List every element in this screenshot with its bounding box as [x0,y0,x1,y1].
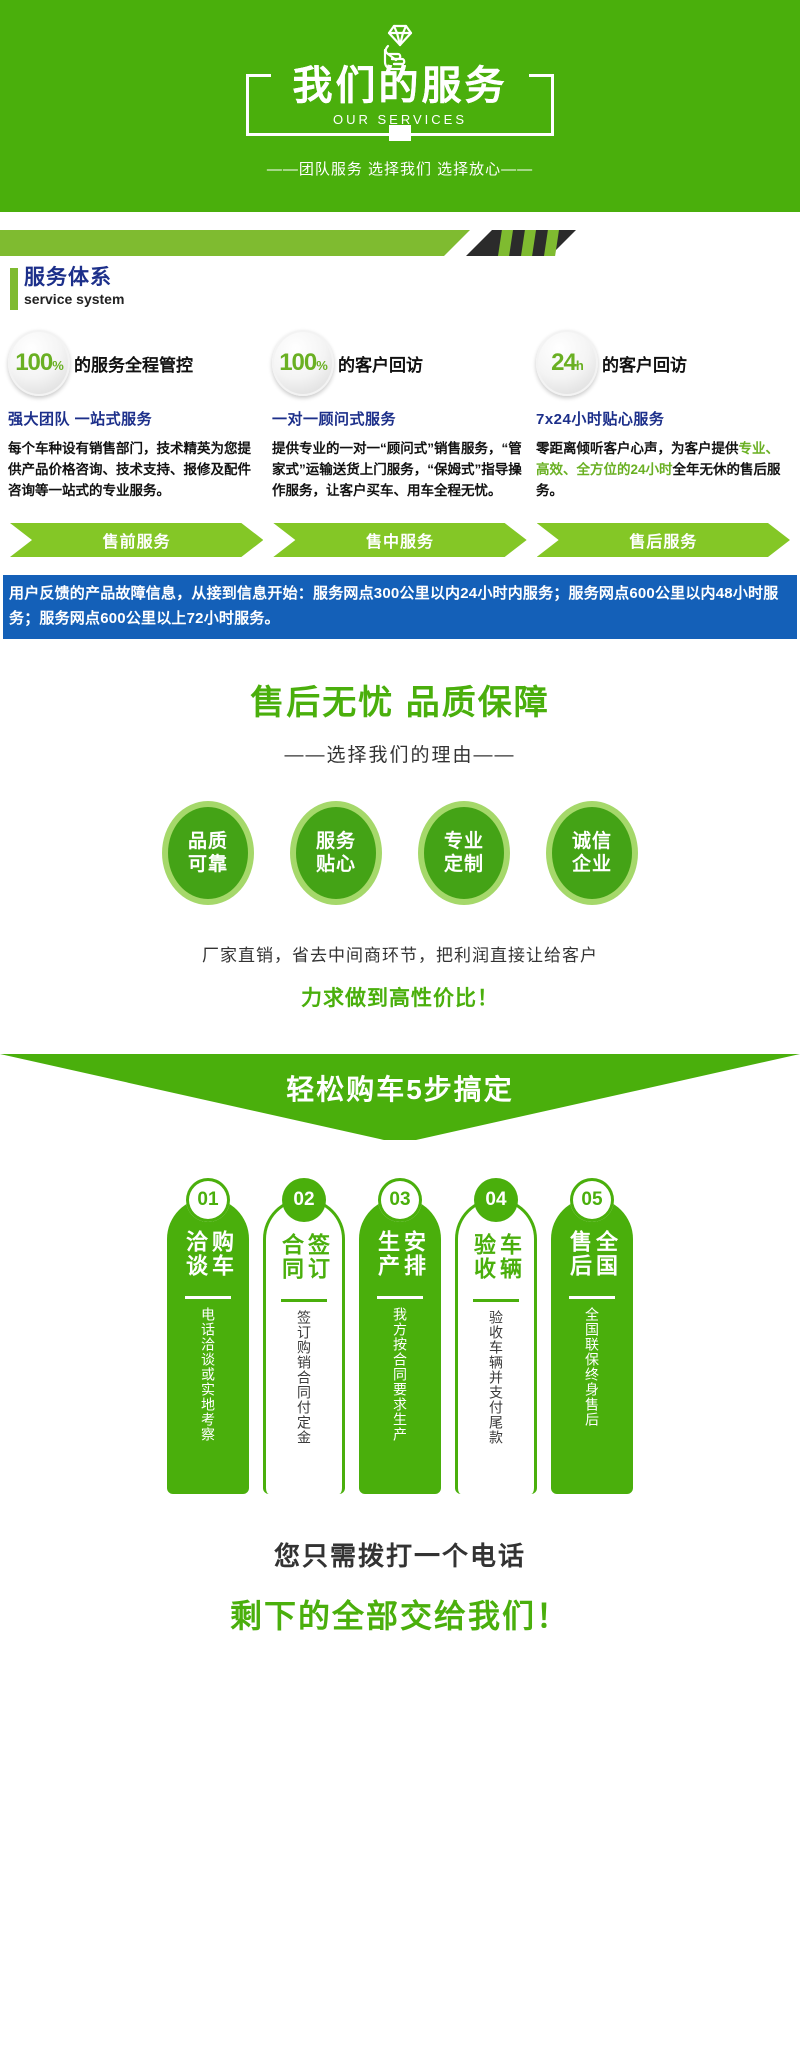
badge-row: 100% 的客户回访 [272,330,528,396]
column-body: 每个车种设有销售部门，技术精英为您提供产品价格咨询、技术支持、报修及配件咨询等一… [8,438,264,501]
reasons-subtitle: ——选择我们的理由—— [0,740,800,767]
column-heading: 7x24小时贴心服务 [536,408,792,429]
hero-tagline: ——团队服务 选择我们 选择放心—— [0,158,800,179]
step-title: 购车洽谈 [182,1230,234,1288]
dark-sweep-shape [466,230,576,256]
column-heading: 一对一顾问式服务 [272,408,528,429]
step-item-5[interactable]: 05 全国售后 全国联保终身售后 [551,1178,633,1494]
service-system-title-cn: 服务体系 [24,266,800,290]
step-divider [569,1296,615,1299]
step-divider [185,1296,231,1299]
purchase-steps: 01 购车洽谈 电话洽谈或实地考察 02 签订合同 签订购销合同付定金 03 安… [0,1178,800,1494]
step-pill: 车辆验收 验收车辆并支付尾款 [455,1198,537,1494]
reasons-title: 售后无忧 品质保障 [0,675,800,724]
hero-banner: 我们的服务 OUR SERVICES ——团队服务 选择我们 选择放心—— [0,0,800,212]
reason-circle-2: 服务 贴心 [290,801,382,905]
step-pill: 安排生产 我方按合同要求生产 [359,1198,441,1494]
service-system-heading: 服务体系 service system [10,266,800,314]
service-column-2: 100% 的客户回访 一对一顾问式服务 提供专业的一对一“顾问式”销售服务，“管… [272,330,528,501]
green-sweep-shape [0,230,470,256]
step-title: 车辆验收 [470,1233,522,1291]
reason-circle-4: 诚信 企业 [546,801,638,905]
reason-line2: 可靠 [188,853,228,876]
step-title: 全国售后 [566,1230,618,1288]
step-divider [281,1299,327,1302]
steps-banner: 轻松购车5步搞定 [0,1054,800,1140]
step-item-1[interactable]: 01 购车洽谈 电话洽谈或实地考察 [167,1178,249,1494]
step-pill: 签订合同 签订购销合同付定金 [263,1198,345,1494]
reason-line1: 服务 [316,830,356,853]
step-number: 02 [282,1178,326,1222]
badge-label: 的客户回访 [338,351,423,376]
step-number: 05 [570,1178,614,1222]
badge-row: 24h 的客户回访 [536,330,792,396]
reason-line2: 贴心 [316,853,356,876]
page-title: 我们的服务 [0,66,800,106]
step-item-4[interactable]: 04 车辆验收 验收车辆并支付尾款 [455,1178,537,1494]
badge-row: 100% 的服务全程管控 [8,330,264,396]
step-number: 01 [186,1178,230,1222]
reason-line1: 诚信 [572,830,612,853]
step-divider [473,1299,519,1302]
percent-badge: 100% [8,330,70,396]
step-number: 04 [474,1178,518,1222]
step-description: 我方按合同要求生产 [391,1307,409,1477]
steps-banner-title: 轻松购车5步搞定 [0,1068,800,1108]
section-decor-bar [0,218,800,264]
column-heading: 强大团队 一站式服务 [8,408,264,429]
badge-label: 的服务全程管控 [74,351,193,376]
stage-arrow-presale[interactable]: 售前服务 [10,523,263,557]
response-policy-band: 用户反馈的产品故障信息，从接到信息开始：服务网点300公里以内24小时内服务；服… [3,575,797,639]
step-description: 全国联保终身售后 [583,1307,601,1477]
step-title: 安排生产 [374,1230,426,1288]
stage-arrow-aftersale[interactable]: 售后服务 [537,523,790,557]
step-pill: 全国售后 全国联保终身售后 [551,1198,633,1494]
stage-arrow-insale[interactable]: 售中服务 [273,523,526,557]
reason-line1: 专业 [444,830,484,853]
badge-value: 100% [15,351,63,375]
reason-line1: 品质 [188,830,228,853]
direct-sales-line-2: 力求做到高性价比！ [0,982,800,1012]
hours-badge: 24h [536,330,598,396]
service-columns: 100% 的服务全程管控 强大团队 一站式服务 每个车种设有销售部门，技术精英为… [8,330,792,501]
step-description: 签订购销合同付定金 [295,1310,313,1480]
step-pill: 购车洽谈 电话洽谈或实地考察 [167,1198,249,1494]
footer-line-1: 您只需拨打一个电话 [0,1536,800,1573]
step-item-2[interactable]: 02 签订合同 签订购销合同付定金 [263,1178,345,1494]
reason-line2: 企业 [572,853,612,876]
step-description: 验收车辆并支付尾款 [487,1310,505,1480]
service-column-1: 100% 的服务全程管控 强大团队 一站式服务 每个车种设有销售部门，技术精英为… [8,330,264,501]
reason-circles: 品质 可靠 服务 贴心 专业 定制 诚信 企业 [0,801,800,905]
body-pre: 零距离倾听客户心声，为客户提供 [536,441,739,456]
reason-circle-1: 品质 可靠 [162,801,254,905]
badge-value: 24h [551,351,583,375]
step-divider [377,1296,423,1299]
percent-badge: 100% [272,330,334,396]
footer-line-2: 剩下的全部交给我们！ [0,1591,800,1637]
badge-label: 的客户回访 [602,351,687,376]
service-column-3: 24h 的客户回访 7x24小时贴心服务 零距离倾听客户心声，为客户提供专业、高… [536,330,792,501]
service-stage-arrows: 售前服务 售中服务 售后服务 [10,523,790,557]
column-body: 提供专业的一对一“顾问式”销售服务，“管家式”运输送货上门服务，“保姆式”指导操… [272,438,528,501]
reason-circle-3: 专业 定制 [418,801,510,905]
step-description: 电话洽谈或实地考察 [199,1307,217,1477]
badge-value: 100% [279,351,327,375]
page-subtitle: OUR SERVICES [0,112,800,127]
direct-sales-line-1: 厂家直销，省去中间商环节，把利润直接让给客户 [0,941,800,966]
reason-line2: 定制 [444,853,484,876]
column-body: 零距离倾听客户心声，为客户提供专业、高效、全方位的24小时全年无休的售后服务。 [536,438,792,501]
step-title: 签订合同 [278,1233,330,1291]
step-item-3[interactable]: 03 安排生产 我方按合同要求生产 [359,1178,441,1494]
step-number: 03 [378,1178,422,1222]
service-system-title-en: service system [24,290,800,308]
